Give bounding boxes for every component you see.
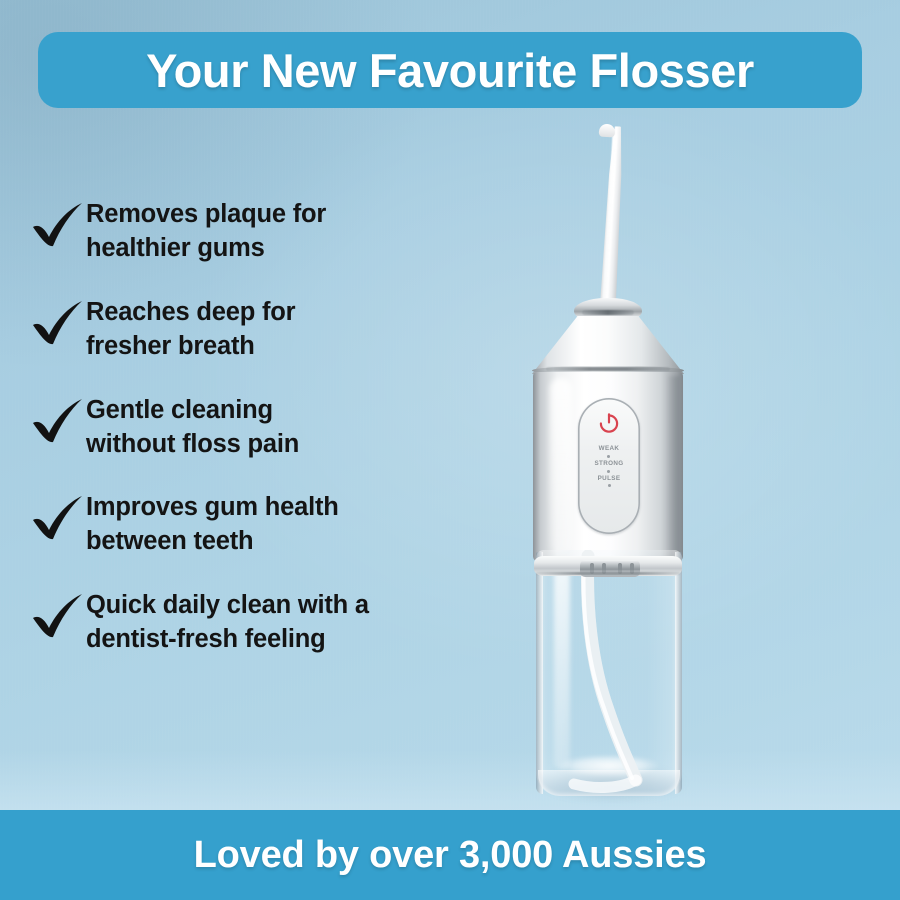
led-weak bbox=[607, 455, 610, 458]
product-image: WEAK STRONG PULSE bbox=[470, 120, 760, 810]
benefit-line-1: Reaches deep for bbox=[86, 298, 295, 326]
nozzle-collar-band bbox=[582, 310, 634, 315]
check-icon bbox=[30, 398, 86, 450]
benefit-line-2: healthier gums bbox=[86, 234, 265, 262]
led-strong bbox=[607, 470, 610, 473]
mode-label-strong: STRONG bbox=[594, 461, 623, 467]
power-icon[interactable] bbox=[597, 411, 621, 435]
mode-strong[interactable]: STRONG bbox=[594, 461, 623, 473]
benefit-text-4: Improves gum health between teeth bbox=[86, 489, 339, 559]
benefit-line-1: Improves gum health bbox=[86, 493, 339, 521]
mode-label-weak: WEAK bbox=[599, 446, 620, 452]
footer-banner: Loved by over 3,000 Aussies bbox=[0, 810, 900, 900]
handle-highlight bbox=[550, 378, 572, 554]
benefit-line-2: fresher breath bbox=[86, 332, 255, 360]
benefits-list: Removes plaque for healthier gums Reache… bbox=[30, 196, 500, 657]
mode-pulse[interactable]: PULSE bbox=[598, 476, 621, 488]
benefit-text-1: Removes plaque for healthier gums bbox=[86, 196, 326, 266]
handle-edge-shade bbox=[666, 376, 680, 558]
intake-tube bbox=[536, 550, 682, 796]
benefit-item-5: Quick daily clean with a dentist-fresh f… bbox=[30, 587, 500, 657]
benefit-item-1: Removes plaque for healthier gums bbox=[30, 196, 500, 266]
benefit-line-2: dentist-fresh feeling bbox=[86, 625, 326, 653]
benefit-line-1: Removes plaque for bbox=[86, 200, 326, 228]
led-pulse bbox=[608, 484, 611, 487]
benefit-text-2: Reaches deep for fresher breath bbox=[86, 294, 295, 364]
benefit-text-3: Gentle cleaning without floss pain bbox=[86, 392, 299, 462]
tank-cap-seam bbox=[536, 572, 680, 575]
benefit-line-2: without floss pain bbox=[86, 430, 299, 458]
mode-label-pulse: PULSE bbox=[598, 476, 621, 482]
benefit-line-2: between teeth bbox=[86, 527, 253, 555]
check-icon bbox=[30, 593, 86, 645]
benefit-line-1: Gentle cleaning bbox=[86, 396, 273, 424]
check-icon bbox=[30, 202, 86, 254]
body-shoulder-seam bbox=[546, 367, 670, 371]
promo-image: Your New Favourite Flosser Removes plaqu… bbox=[0, 0, 900, 900]
benefit-item-2: Reaches deep for fresher breath bbox=[30, 294, 500, 364]
check-icon bbox=[30, 300, 86, 352]
nozzle-tip bbox=[599, 124, 616, 138]
mode-indicators: WEAK STRONG PULSE bbox=[578, 446, 640, 487]
benefit-text-5: Quick daily clean with a dentist-fresh f… bbox=[86, 587, 369, 657]
benefit-item-3: Gentle cleaning without floss pain bbox=[30, 392, 500, 462]
footer-text: Loved by over 3,000 Aussies bbox=[194, 834, 707, 877]
check-icon bbox=[30, 495, 86, 547]
benefit-item-4: Improves gum health between teeth bbox=[30, 489, 500, 559]
headline-banner: Your New Favourite Flosser bbox=[38, 32, 862, 108]
benefit-line-1: Quick daily clean with a bbox=[86, 591, 369, 619]
mode-weak[interactable]: WEAK bbox=[599, 446, 620, 458]
headline-text: Your New Favourite Flosser bbox=[146, 43, 754, 98]
